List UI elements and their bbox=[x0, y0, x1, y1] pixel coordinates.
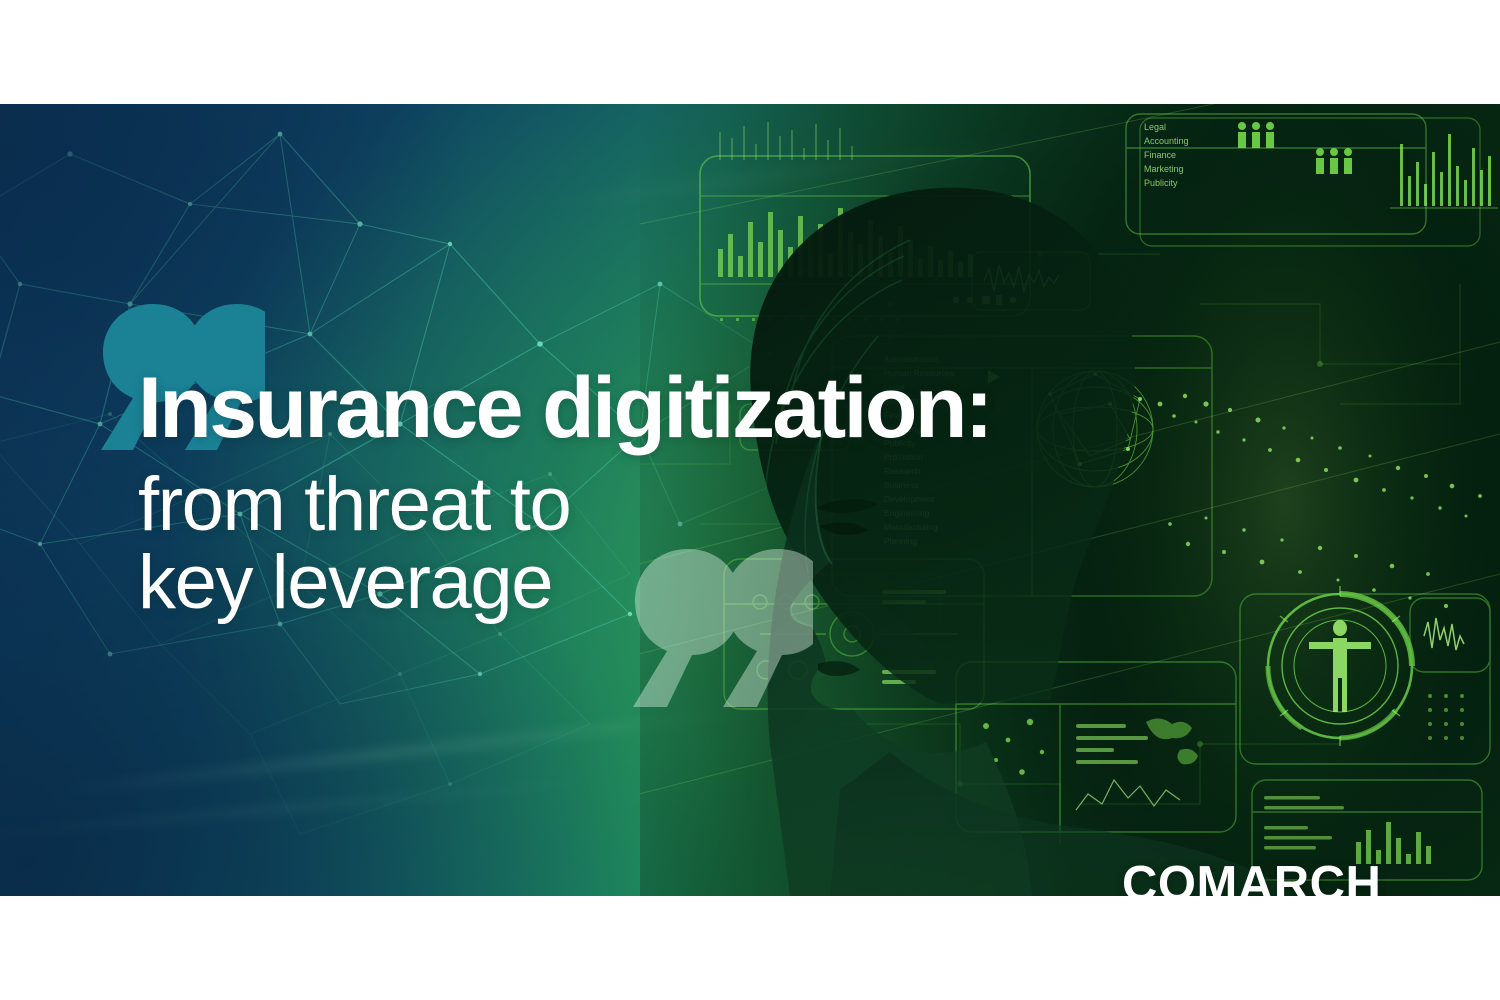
headline-line-3: key leverage bbox=[138, 542, 1138, 624]
headline-colon: : bbox=[965, 360, 991, 456]
headline-line-1: Insurance digitization: bbox=[138, 366, 1138, 450]
comarch-logo: COMARCH bbox=[1122, 860, 1381, 896]
headline-line-1-text: Insurance digitization bbox=[138, 360, 965, 456]
headline-line-2: from threat to bbox=[138, 464, 1138, 546]
promo-banner: Legal Accounting Finance Marketing Publi… bbox=[0, 104, 1500, 896]
page-root: Legal Accounting Finance Marketing Publi… bbox=[0, 0, 1500, 1000]
headline-block: Insurance digitization: from threat to k… bbox=[138, 366, 1138, 624]
